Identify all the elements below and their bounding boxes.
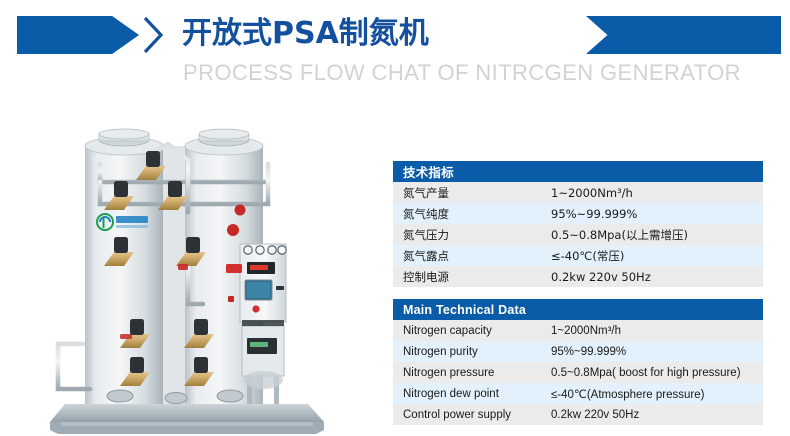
table-row: Nitrogen dew point ≤-40℃(Atmosphere pres…	[393, 383, 763, 404]
spec-label: Control power supply	[393, 404, 551, 425]
product-spec-page: 开放式PSA制氮机 PROCESS FLOW CHAT OF NITRCGEN …	[0, 0, 790, 436]
spec-label: 控制电源	[393, 266, 551, 287]
spec-value: 95%~99.999%	[551, 341, 763, 362]
product-photo	[28, 104, 358, 434]
table-title-cn: 技术指标	[393, 161, 763, 182]
spec-value: 0.5~0.8Mpa( boost for high pressure)	[551, 362, 763, 383]
machine-base-frame	[50, 404, 324, 434]
emergency-stop-button	[252, 305, 259, 312]
table-row: Nitrogen purity 95%~99.999%	[393, 341, 763, 362]
table-row: 控制电源 0.2kw 220v 50Hz	[393, 266, 763, 287]
table-row: Control power supply 0.2kw 220v 50Hz	[393, 404, 763, 425]
table-row: 氮气露点 ≤-40℃(常压)	[393, 245, 763, 266]
spec-value: 0.5~0.8Mpa(以上需增压)	[551, 224, 763, 245]
table-header-row: Main Technical Data	[393, 299, 763, 320]
table-header-row: 技术指标	[393, 161, 763, 182]
nitrogen-generator-illustration	[28, 104, 358, 434]
table-row: 氮气纯度 95%~99.999%	[393, 203, 763, 224]
spec-label: Nitrogen purity	[393, 341, 551, 362]
table-row: 氮气压力 0.5~0.8Mpa(以上需增压)	[393, 224, 763, 245]
spec-value: 95%~99.999%	[551, 203, 763, 224]
spec-label: Nitrogen pressure	[393, 362, 551, 383]
page-subtitle: PROCESS FLOW CHAT OF NITRCGEN GENERATOR	[183, 60, 741, 86]
right-arrow-banner-icon	[17, 16, 139, 54]
spec-label: 氮气露点	[393, 245, 551, 266]
spec-value: 1~2000Nm³/h	[551, 320, 763, 341]
spec-value: ≤-40℃(Atmosphere pressure)	[551, 383, 763, 404]
alarm-lamp-icon	[226, 264, 242, 273]
table-row: Nitrogen capacity 1~2000Nm³/h	[393, 320, 763, 341]
spec-value: 1~2000Nm³/h	[551, 182, 763, 203]
table-title-en: Main Technical Data	[393, 299, 763, 320]
page-header: 开放式PSA制氮机 PROCESS FLOW CHAT OF NITRCGEN …	[0, 0, 790, 100]
technical-spec-table-cn: 技术指标 氮气产量 1~2000Nm³/h 氮气纯度 95%~99.999% 氮…	[393, 161, 763, 287]
spec-label: 氮气压力	[393, 224, 551, 245]
spec-value: ≤-40℃(常压)	[551, 245, 763, 266]
ribbon-banner-icon	[586, 16, 781, 54]
spec-label: Nitrogen dew point	[393, 383, 551, 404]
spec-value: 0.2kw 220v 50Hz	[551, 404, 763, 425]
page-title: 开放式PSA制氮机	[182, 14, 429, 54]
technical-spec-table-en: Main Technical Data Nitrogen capacity 1~…	[393, 299, 763, 425]
table-row: 氮气产量 1~2000Nm³/h	[393, 182, 763, 203]
chevron-right-outline-icon	[142, 15, 166, 55]
spec-label: Nitrogen capacity	[393, 320, 551, 341]
spec-label: 氮气纯度	[393, 203, 551, 224]
spec-label: 氮气产量	[393, 182, 551, 203]
spec-value: 0.2kw 220v 50Hz	[551, 266, 763, 287]
table-row: Nitrogen pressure 0.5~0.8Mpa( boost for …	[393, 362, 763, 383]
